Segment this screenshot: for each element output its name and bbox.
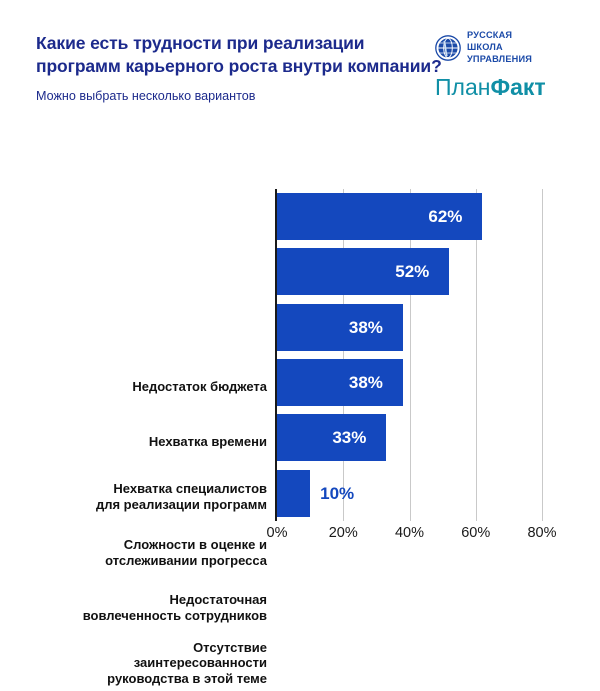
bar-row[interactable]: 52%	[277, 244, 542, 299]
bar-value-label: 62%	[428, 193, 462, 240]
bar-chart: Недостаток бюджетаНехватка времениНехват…	[0, 170, 600, 570]
category-label: Недостаток бюджета	[30, 359, 267, 414]
bar-value-label: 10%	[320, 470, 354, 517]
bar-value-label: 33%	[332, 414, 366, 461]
bar-row[interactable]: 38%	[277, 355, 542, 410]
category-label: Сложности в оценке и отслеживании прогре…	[30, 525, 267, 580]
globe-icon	[435, 35, 461, 61]
rsu-logo: РУССКАЯ ШКОЛА УПРАВЛЕНИЯ	[435, 30, 570, 65]
rsu-logo-text: РУССКАЯ ШКОЛА УПРАВЛЕНИЯ	[467, 30, 532, 65]
category-label: Нехватка специалистов для реализации про…	[30, 470, 267, 525]
title-block: Какие есть трудности при реализации прог…	[36, 32, 446, 104]
category-label: Недостаточная вовлеченность сотрудников	[30, 580, 267, 635]
bar-value-label: 52%	[395, 248, 429, 295]
planfact-logo-part1: План	[435, 74, 490, 100]
bar[interactable]	[277, 304, 403, 351]
planfact-logo-part2: Факт	[490, 74, 545, 100]
category-label: Отсутствие заинтересованности руководств…	[30, 636, 267, 691]
page-title: Какие есть трудности при реализации прог…	[36, 32, 446, 79]
bar-series: 62%52%38%38%33%10%	[277, 189, 542, 521]
bar-value-label: 38%	[349, 304, 383, 351]
plot-area: 62%52%38%38%33%10%	[277, 189, 542, 521]
bar-value-label: 38%	[349, 359, 383, 406]
bar-row[interactable]: 62%	[277, 189, 542, 244]
category-label: Нехватка времени	[30, 414, 267, 469]
bar[interactable]	[277, 470, 310, 517]
chart-subtitle: Можно выбрать несколько вариантов	[36, 89, 446, 104]
bar-row[interactable]: 33%	[277, 410, 542, 465]
x-tick-label: 20%	[329, 525, 358, 541]
bar-row[interactable]: 38%	[277, 300, 542, 355]
bar-row[interactable]: 10%	[277, 466, 542, 521]
category-axis-labels: Недостаток бюджетаНехватка времениНехват…	[30, 359, 267, 691]
planfact-logo: ПланФакт	[435, 76, 570, 99]
gridline	[542, 189, 543, 521]
value-axis-tick-labels: 0%20%40%60%80%	[277, 525, 542, 555]
x-tick-label: 40%	[395, 525, 424, 541]
bar[interactable]	[277, 359, 403, 406]
x-tick-label: 0%	[267, 525, 288, 541]
chart-header: Какие есть трудности при реализации прог…	[0, 0, 600, 160]
x-tick-label: 60%	[461, 525, 490, 541]
x-tick-label: 80%	[527, 525, 556, 541]
logo-block: РУССКАЯ ШКОЛА УПРАВЛЕНИЯ ПланФакт	[435, 30, 570, 99]
